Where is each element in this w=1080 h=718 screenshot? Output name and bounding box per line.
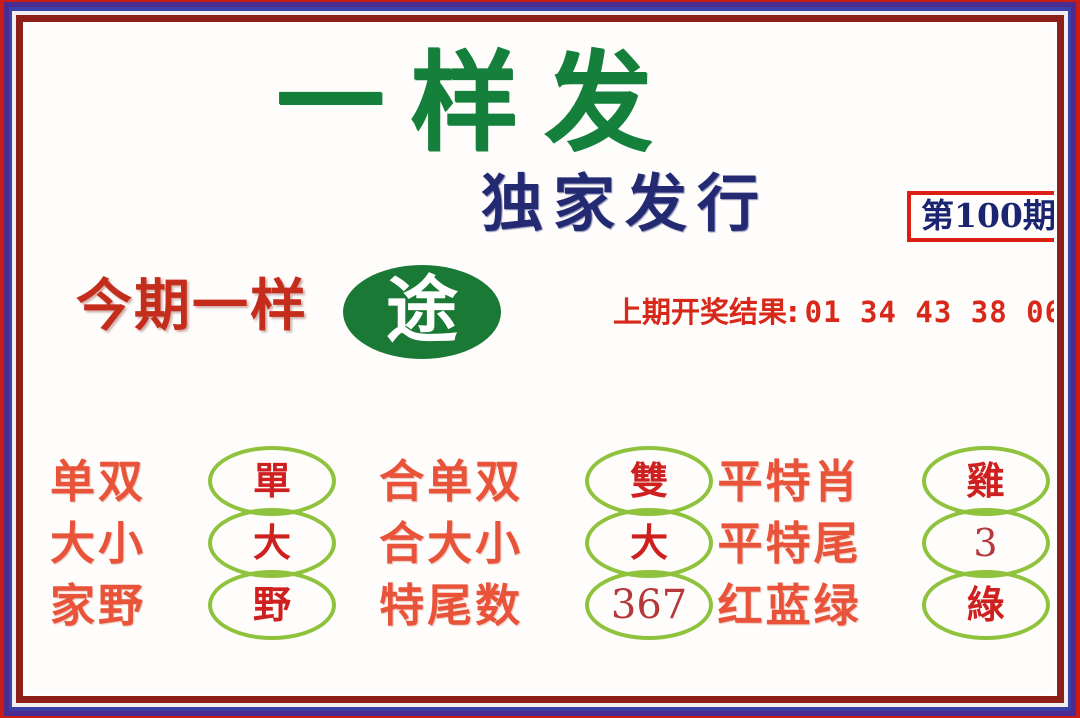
prediction-row: 特尾数 367 [379, 574, 717, 636]
prediction-value-ellipse: 雞 [922, 446, 1050, 516]
prediction-column-3: 平特肖 雞 平特尾 3 红蓝绿 綠 [718, 450, 1054, 636]
prediction-label: 合大小 [379, 521, 579, 566]
prediction-row: 平特尾 3 [718, 512, 1054, 574]
prediction-label: 家野 [50, 583, 202, 628]
prediction-column-2: 合单双 雙 合大小 大 特尾数 367 [369, 450, 717, 636]
prediction-value-ellipse: 野 [208, 570, 336, 640]
highlight-ellipse: 途 [343, 265, 501, 359]
prediction-value-ellipse: 大 [208, 508, 336, 578]
prediction-label: 平特肖 [718, 459, 916, 504]
prediction-value: 大 [630, 524, 668, 562]
prediction-row: 合大小 大 [379, 512, 717, 574]
prediction-value-ellipse: 單 [208, 446, 336, 516]
prediction-grid: 单双 單 大小 大 家野 野 [26, 450, 1054, 636]
prediction-label: 平特尾 [718, 521, 916, 566]
last-draw-result: 上期开奖结果:01 34 43 38 06 22+20 [613, 298, 1054, 327]
last-draw-numbers: 01 34 43 38 06 22+20 [805, 295, 1054, 329]
prediction-label: 大小 [50, 521, 202, 566]
prediction-label: 单双 [50, 459, 202, 504]
prediction-value: 野 [253, 586, 291, 624]
prediction-value-ellipse: 綠 [922, 570, 1050, 640]
prediction-row: 红蓝绿 綠 [718, 574, 1054, 636]
prediction-label: 特尾数 [379, 583, 579, 628]
prediction-value-ellipse: 3 [922, 508, 1050, 578]
prediction-value: 367 [611, 585, 687, 625]
page-title: 一样发 [276, 47, 876, 160]
prediction-value: 單 [253, 462, 291, 500]
prediction-value: 雞 [966, 462, 1004, 500]
prediction-value-ellipse: 367 [585, 570, 713, 640]
tagline-text: 今期一样 [76, 278, 308, 334]
prediction-value: 雙 [630, 462, 668, 500]
prediction-value-ellipse: 大 [585, 508, 713, 578]
prediction-label: 合单双 [379, 459, 579, 504]
prediction-row: 合单双 雙 [379, 450, 717, 512]
prediction-value: 3 [973, 524, 997, 562]
issue-number-badge: 第100期 [907, 191, 1054, 242]
poster-content-area: 一样发 独家发行 第100期 今期一样 途 上期开奖结果:01 34 43 38… [26, 25, 1054, 693]
lottery-poster: 一样发 独家发行 第100期 今期一样 途 上期开奖结果:01 34 43 38… [0, 0, 1080, 718]
prediction-row: 家野 野 [50, 574, 369, 636]
prediction-value: 大 [253, 524, 291, 562]
prediction-row: 单双 單 [50, 450, 369, 512]
prediction-column-1: 单双 單 大小 大 家野 野 [26, 450, 369, 636]
prediction-row: 大小 大 [50, 512, 369, 574]
highlight-character: 途 [386, 274, 458, 346]
last-draw-label: 上期开奖结果: [613, 295, 799, 329]
subtitle: 独家发行 [481, 173, 769, 235]
prediction-value-ellipse: 雙 [585, 446, 713, 516]
prediction-value: 綠 [966, 586, 1004, 624]
prediction-row: 平特肖 雞 [718, 450, 1054, 512]
prediction-label: 红蓝绿 [718, 583, 916, 628]
